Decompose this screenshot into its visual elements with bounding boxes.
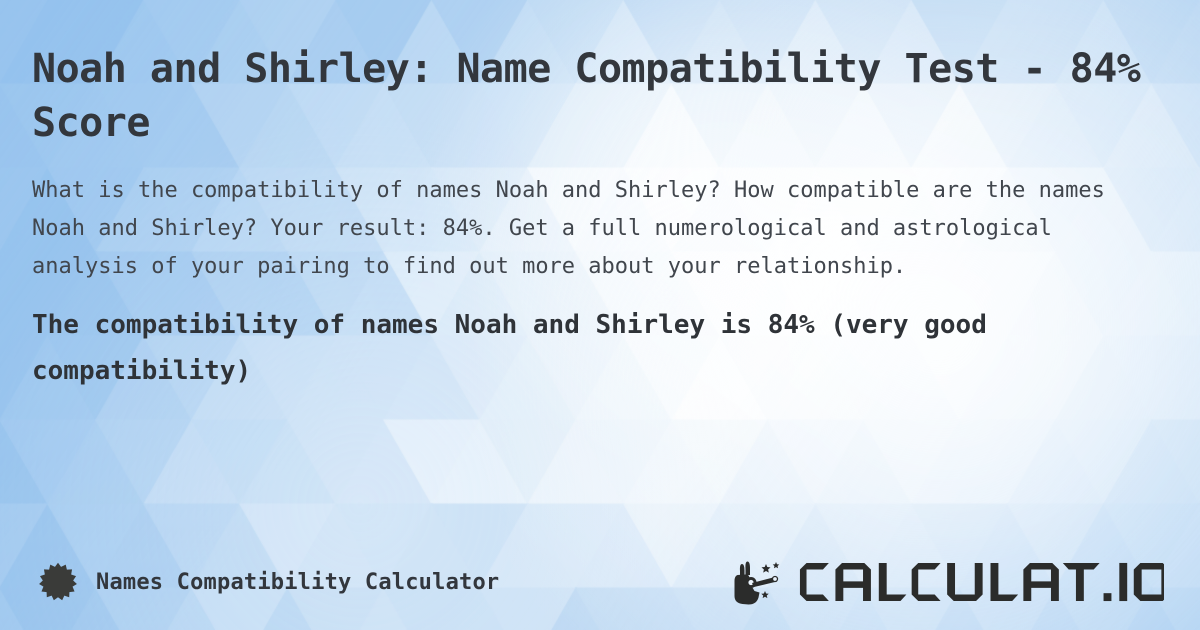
page-title: Noah and Shirley: Name Compatibility Tes…	[32, 42, 1142, 150]
description-paragraph: What is the compatibility of names Noah …	[32, 172, 1137, 286]
footer-bar: Names Compatibility Calculator	[0, 534, 1200, 630]
logo-wordmark	[796, 559, 1164, 605]
calculatio-logo[interactable]	[732, 558, 1164, 606]
brand-block: Names Compatibility Calculator	[38, 562, 499, 602]
hand-magic-wand-icon	[732, 558, 792, 606]
result-statement: The compatibility of names Noah and Shir…	[32, 302, 1152, 394]
brand-label: Names Compatibility Calculator	[96, 570, 499, 595]
starburst-icon	[38, 562, 78, 602]
